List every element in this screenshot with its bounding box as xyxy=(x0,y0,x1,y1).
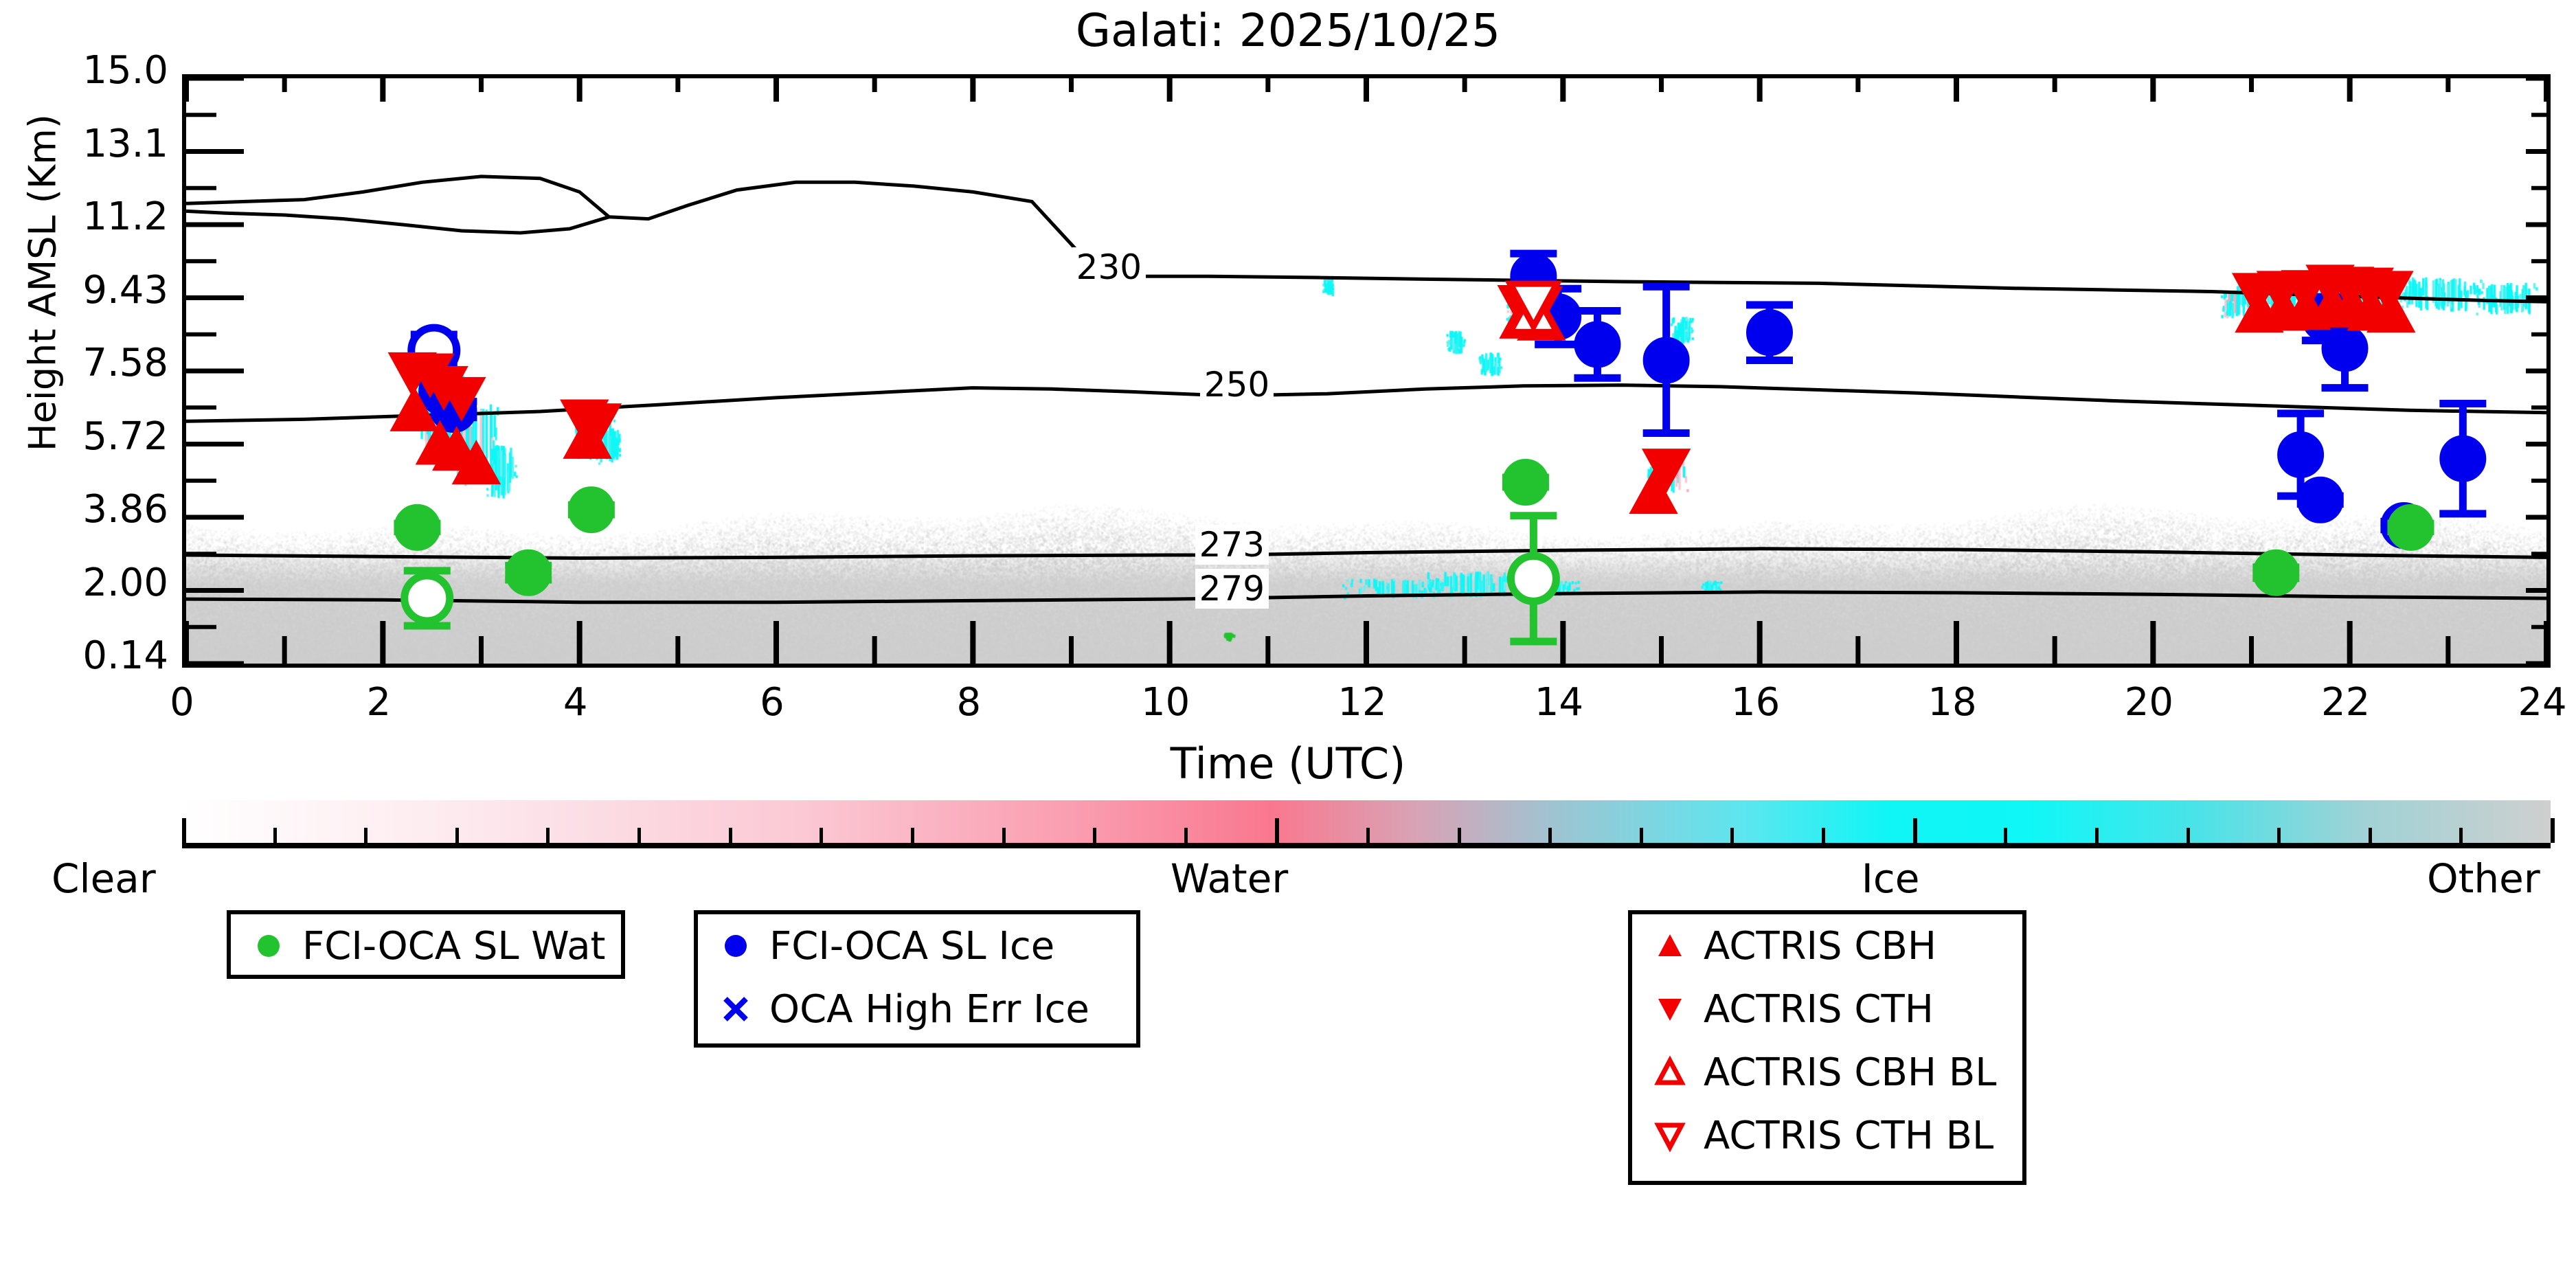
legend-item-oca-high-err-ice[interactable]: OCA High Err Ice xyxy=(698,978,1136,1041)
colorbar-tick xyxy=(364,828,368,843)
legend-actris[interactable]: ACTRIS CBHACTRIS CTHACTRIS CBH BLACTRIS … xyxy=(1628,910,2026,1185)
x-tick-12: 12 xyxy=(1307,680,1417,725)
y-tick-11.2: 11.2 xyxy=(0,194,168,239)
page-title: Galati: 2025/10/25 xyxy=(0,4,2576,57)
colorbar-tick xyxy=(2187,828,2190,843)
legend-item-label: ACTRIS CTH BL xyxy=(1704,1114,1993,1158)
colorbar-tick xyxy=(1366,828,1370,843)
legend-item-label: FCI-OCA SL Ice xyxy=(769,924,1054,969)
y-tick-15.0: 15.0 xyxy=(0,48,168,93)
legend-item-fci-oca-sl-ice[interactable]: FCI-OCA SL Ice xyxy=(698,914,1136,978)
cloud-profile-plot[interactable] xyxy=(182,74,2551,668)
filled-circle-icon xyxy=(716,929,756,963)
legend-item-label: ACTRIS CBH xyxy=(1704,924,1936,969)
legend-item-label: FCI-OCA SL Wat xyxy=(302,924,606,969)
y-tick-9.43: 9.43 xyxy=(0,268,168,313)
colorbar-tick xyxy=(2459,828,2463,843)
colorbar-tick xyxy=(2369,828,2372,843)
x-tick-0: 0 xyxy=(127,680,237,725)
y-tick-3.86: 3.86 xyxy=(0,487,168,532)
x-tick-24: 24 xyxy=(2487,680,2576,725)
legend-item-actris-cth[interactable]: ACTRIS CTH xyxy=(1632,978,2022,1041)
colorbar-tick xyxy=(1093,828,1096,843)
colorbar-axis-line xyxy=(182,843,2551,848)
cloud-phase-colorbar[interactable] xyxy=(182,800,2551,843)
contour-label-273: 273 xyxy=(1195,525,1269,565)
colorbar-tick xyxy=(1458,828,1461,843)
legend-item-fci-oca-sl-wat[interactable]: FCI-OCA SL Wat xyxy=(231,914,621,978)
colorbar-tick xyxy=(182,818,186,843)
colorbar-tick xyxy=(455,828,459,843)
legend-item-actris-cth-bl[interactable]: ACTRIS CTH BL xyxy=(1632,1104,2022,1167)
x-tick-14: 14 xyxy=(1504,680,1614,725)
colorbar-tick xyxy=(2095,828,2099,843)
colorbar-tick xyxy=(1275,818,1279,843)
x-axis-label: Time (UTC) xyxy=(824,738,1752,789)
colorbar-tick xyxy=(820,828,823,843)
colorbar-tick xyxy=(637,828,641,843)
colorbar-label-ice: Ice xyxy=(1862,855,1920,902)
colorbar-tick xyxy=(273,828,277,843)
filled-triangle-up-icon xyxy=(1650,929,1690,963)
legend-item-label: ACTRIS CTH xyxy=(1704,987,1934,1032)
colorbar-tick xyxy=(1002,828,1006,843)
y-tick-0.14: 0.14 xyxy=(0,633,168,678)
cross-icon xyxy=(716,992,756,1026)
colorbar-tick xyxy=(911,828,914,843)
colorbar-tick xyxy=(1913,818,1917,843)
legend-water[interactable]: FCI-OCA SL Wat xyxy=(227,910,625,979)
colorbar-tick xyxy=(1730,828,1734,843)
colorbar-tick xyxy=(546,828,550,843)
legend-item-actris-cbh[interactable]: ACTRIS CBH xyxy=(1632,914,2022,978)
filled-circle-icon xyxy=(249,929,289,963)
x-tick-20: 20 xyxy=(2094,680,2204,725)
colorbar-tick xyxy=(729,828,732,843)
colorbar-tick xyxy=(1640,828,1643,843)
y-tick-13.1: 13.1 xyxy=(0,122,168,166)
x-tick-2: 2 xyxy=(324,680,433,725)
colorbar-tick xyxy=(1548,828,1552,843)
x-tick-6: 6 xyxy=(717,680,827,725)
colorbar-tick xyxy=(1822,828,1825,843)
filled-triangle-down-icon xyxy=(1650,992,1690,1026)
legend-ice[interactable]: FCI-OCA SL IceOCA High Err Ice xyxy=(694,910,1140,1048)
x-tick-10: 10 xyxy=(1111,680,1221,725)
colorbar-tick xyxy=(2004,828,2007,843)
x-tick-22: 22 xyxy=(2291,680,2401,725)
legend-item-label: ACTRIS CBH BL xyxy=(1704,1050,1996,1095)
legend-item-label: OCA High Err Ice xyxy=(769,987,1089,1032)
open-triangle-down-icon xyxy=(1650,1118,1690,1153)
contour-label-250: 250 xyxy=(1200,365,1274,405)
colorbar-label-water: Water xyxy=(1171,855,1288,902)
contour-label-279: 279 xyxy=(1195,569,1269,609)
y-tick-7.58: 7.58 xyxy=(0,341,168,385)
x-tick-4: 4 xyxy=(521,680,631,725)
contour-label-230: 230 xyxy=(1072,247,1146,287)
x-tick-16: 16 xyxy=(1701,680,1811,725)
colorbar-tick xyxy=(2551,818,2555,843)
colorbar-tick xyxy=(2277,828,2281,843)
colorbar-label-clear: Clear xyxy=(52,855,156,902)
open-triangle-up-icon xyxy=(1650,1055,1690,1089)
plot-overlay xyxy=(186,78,2546,664)
x-tick-8: 8 xyxy=(914,680,1024,725)
x-tick-18: 18 xyxy=(1897,680,2007,725)
colorbar-label-other: Other xyxy=(2427,855,2540,902)
colorbar-tick xyxy=(1184,828,1188,843)
legend-item-actris-cbh-bl[interactable]: ACTRIS CBH BL xyxy=(1632,1041,2022,1104)
y-tick-5.72: 5.72 xyxy=(0,414,168,459)
y-tick-2.00: 2.00 xyxy=(0,561,168,605)
